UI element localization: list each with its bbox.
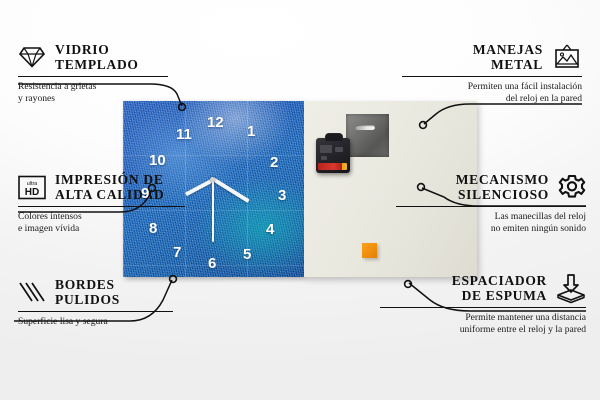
mechanism-detail [335, 147, 343, 152]
callout-manejas-metal: MANEJAS METAL Permiten una fácil instala… [402, 42, 582, 104]
callout-espaciador-espuma: ESPACIADOR DE ESPUMA Permite mantener un… [380, 273, 586, 335]
callout-desc-line1: Resistencia a grietas [18, 81, 198, 92]
callout-title-line1: VIDRIO [55, 42, 139, 57]
callout-rule [18, 206, 185, 207]
callout-title-line1: MANEJAS [473, 42, 543, 57]
clock-second-hand [212, 180, 214, 242]
callout-rule [402, 76, 582, 77]
clock-numeral-12: 12 [207, 115, 224, 130]
callout-rule [18, 311, 173, 312]
gear-icon [558, 174, 586, 201]
svg-text:HD: HD [25, 187, 39, 198]
callout-title-line2: PULIDOS [55, 292, 120, 307]
mechanism-detail [320, 145, 332, 153]
clock-numeral-2: 2 [270, 155, 278, 170]
callout-mecanismo-silencioso: MECANISMO SILENCIOSO Las manecillas del … [396, 172, 586, 234]
callout-rule [380, 307, 586, 308]
foam-spacer-icon [556, 274, 586, 302]
callout-header: MANEJAS METAL [402, 42, 582, 72]
callout-header: ultra HD IMPRESIÓN DE ALTA CALIDAD [18, 172, 208, 202]
callout-vidrio-templado: VIDRIO TEMPLADO Resistencia a grietas y … [18, 42, 198, 104]
clock-numeral-10: 10 [149, 153, 166, 168]
callout-title-line2: SILENCIOSO [456, 187, 549, 202]
callout-bordes-pulidos: BORDES PULIDOS Superficie lisa y segura [18, 277, 198, 328]
callout-desc-line1: Las manecillas del reloj [396, 211, 586, 222]
clock-numeral-11: 11 [176, 127, 192, 142]
callout-header: VIDRIO TEMPLADO [18, 42, 198, 72]
callout-desc-line2: del reloj en la pared [402, 93, 582, 104]
callout-title: ESPACIADOR DE ESPUMA [452, 273, 547, 303]
callout-desc-line2: y rayones [18, 93, 198, 104]
callout-title: MECANISMO SILENCIOSO [456, 172, 549, 202]
callout-rule [396, 206, 586, 207]
mechanism-battery [318, 163, 347, 170]
hanger-keyhole-slot [355, 125, 375, 130]
callout-title: VIDRIO TEMPLADO [55, 42, 139, 72]
clock-numeral-7: 7 [173, 245, 181, 260]
infographic-canvas: 12 1 2 3 4 5 6 7 8 9 10 11 [0, 0, 600, 400]
clock-numeral-5: 5 [243, 247, 251, 262]
callout-title: BORDES PULIDOS [55, 277, 120, 307]
clock-numeral-6: 6 [208, 256, 216, 271]
metal-hanger-plate [346, 114, 389, 157]
callout-title-line1: ESPACIADOR [452, 273, 547, 288]
polished-edges-icon [18, 280, 46, 304]
callout-title-line1: MECANISMO [456, 172, 549, 187]
picture-hanger-icon [552, 44, 582, 70]
clock-minute-hand [212, 177, 250, 203]
clock-center-pivot [210, 177, 215, 182]
callout-desc-line1: Permite mantener una distancia [380, 312, 586, 323]
ultra-hd-icon: ultra HD [18, 175, 46, 200]
callout-desc-line2: no emiten ningún sonido [396, 223, 586, 234]
foam-spacer-piece [362, 243, 377, 258]
callout-desc-line2: e imagen vívida [18, 223, 208, 234]
callout-title-line2: METAL [473, 57, 543, 72]
callout-title-line2: TEMPLADO [55, 57, 139, 72]
callout-header: ESPACIADOR DE ESPUMA [380, 273, 586, 303]
mechanism-handle [325, 133, 343, 141]
callout-rule [18, 76, 168, 77]
callout-impresion-alta-calidad: ultra HD IMPRESIÓN DE ALTA CALIDAD Color… [18, 172, 208, 234]
mechanism-detail [321, 156, 327, 160]
callout-desc-line1: Superficie lisa y segura [18, 316, 198, 327]
callout-desc-line1: Colores intensos [18, 211, 208, 222]
clock-numeral-9: 9 [141, 186, 149, 201]
callout-header: BORDES PULIDOS [18, 277, 198, 307]
callout-title: MANEJAS METAL [473, 42, 543, 72]
clock-numeral-8: 8 [149, 221, 157, 236]
clock-numeral-4: 4 [266, 222, 274, 237]
callout-title-line2: DE ESPUMA [452, 288, 547, 303]
callout-desc-line1: Permiten una fácil instalación [402, 81, 582, 92]
callout-title-line1: BORDES [55, 277, 120, 292]
callout-desc-line2: uniforme entre el reloj y la pared [380, 324, 586, 335]
quartz-mechanism-box [316, 138, 350, 173]
clock-numeral-3: 3 [278, 188, 286, 203]
diamond-icon [18, 45, 46, 69]
callout-header: MECANISMO SILENCIOSO [396, 172, 586, 202]
clock-numeral-1: 1 [247, 124, 255, 139]
